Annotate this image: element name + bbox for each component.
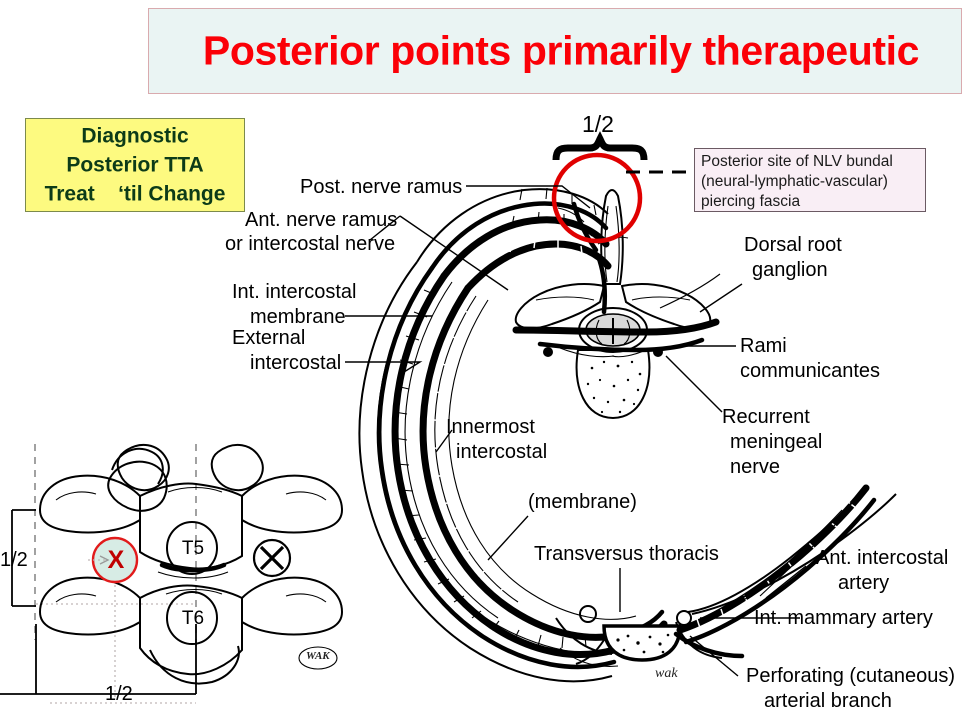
- label-transversus-thoracis: Transversus thoracis: [534, 542, 719, 567]
- half-brace-top: [556, 139, 644, 160]
- diagnostic-callout-box: Diagnostic Posterior TTA Treat ‘til Chan…: [25, 118, 245, 212]
- label-rami-line2: communicantes: [740, 359, 880, 384]
- label-post-nerve-ramus: Post. nerve ramus: [300, 175, 462, 200]
- red-x-label: X: [104, 546, 128, 575]
- page-title: Posterior points primarily therapeutic: [149, 31, 961, 72]
- vertebra-label-t6: T6: [177, 608, 209, 630]
- title-banner: Posterior points primarily therapeutic: [148, 8, 962, 94]
- label-external-line2: intercostal: [250, 351, 341, 376]
- black-x-target: [254, 540, 290, 576]
- label-ant-nerve-ramus-line2: or intercostal nerve: [225, 232, 395, 257]
- nlv-bundle-note-box: Posterior site of NLV bundal (neural-lym…: [694, 148, 926, 212]
- label-innermost-line1: Innermost: [446, 415, 535, 440]
- vertebra-superior-view: [516, 190, 720, 418]
- label-ant-nerve-ramus-line1: Ant. nerve ramus: [245, 208, 397, 233]
- half-label-top: 1/2: [582, 113, 614, 135]
- label-innermost-line2: intercostal: [456, 440, 547, 465]
- label-ant-intercostal-artery-line1: Ant. intercostal: [816, 546, 948, 571]
- callout-line-2: Posterior TTA: [26, 151, 244, 180]
- t5-t6-vertebrae-diagram: [0, 444, 342, 703]
- signature-vertebra-diagram: WAK: [306, 650, 330, 662]
- callout-line-3: Treat ‘til Change: [26, 180, 244, 209]
- half-label-left: 1/2: [0, 549, 28, 571]
- label-recurrent-line3: nerve: [730, 455, 780, 480]
- label-rami-line1: Rami: [740, 334, 787, 359]
- half-label-bottom: 1/2: [105, 683, 133, 705]
- label-recurrent-line1: Recurrent: [722, 405, 810, 430]
- note-line-3: piercing fascia: [701, 192, 920, 212]
- red-highlight-circle: [554, 155, 640, 241]
- label-int-mammary-artery: Int. mammary artery: [754, 606, 933, 631]
- label-external-line1: External: [232, 326, 305, 351]
- label-dorsal-root-line2: ganglion: [752, 258, 828, 283]
- vertebra-label-t5: T5: [177, 538, 209, 560]
- label-membrane: (membrane): [528, 490, 637, 515]
- label-ant-intercostal-artery-line2: artery: [838, 571, 889, 596]
- label-perforating-line2: arterial branch: [764, 689, 892, 714]
- slide-canvas: Posterior points primarily therapeutic D…: [0, 0, 962, 723]
- label-int-intercostal-line1: Int. intercostal: [232, 280, 357, 305]
- callout-line-1: Diagnostic: [26, 122, 244, 151]
- signature-rib-diagram: wak: [655, 666, 678, 682]
- label-perforating-line1: Perforating (cutaneous): [746, 664, 955, 689]
- note-line-2: (neural-lymphatic-vascular): [701, 172, 920, 192]
- label-recurrent-line2: meningeal: [730, 430, 822, 455]
- label-dorsal-root-line1: Dorsal root: [744, 233, 842, 258]
- note-line-1: Posterior site of NLV bundal: [701, 152, 920, 172]
